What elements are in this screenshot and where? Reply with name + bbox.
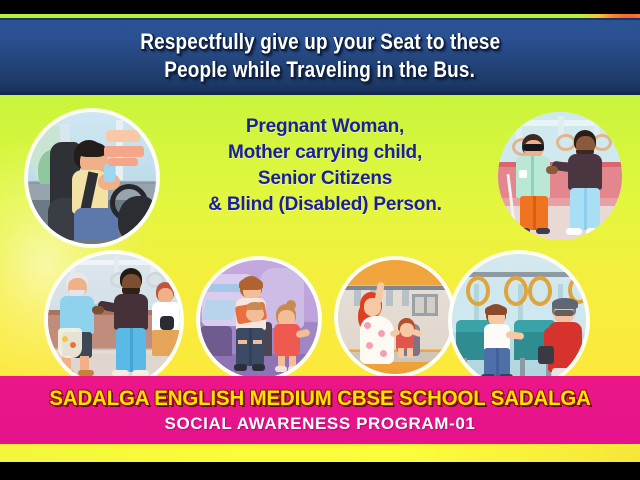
illustration-mother-carrying-child [200, 260, 318, 378]
driver-in-car-scene [28, 112, 156, 244]
body-line-1: Pregnant Woman, [160, 114, 490, 140]
boy-offering-seat-scene [452, 254, 586, 388]
body-copy: Pregnant Woman, Mother carrying child, S… [160, 114, 490, 218]
illustration-boy-offering-seat-to-elderly-woman [452, 254, 586, 388]
illustration-senior-citizen-offered-seat [48, 254, 180, 386]
header-line-1: Respectfully give up your Seat to these [140, 28, 500, 56]
body-line-4: & Blind (Disabled) Person. [160, 192, 490, 218]
awareness-poster: Respectfully give up your Seat to these … [0, 0, 640, 480]
header-banner: Respectfully give up your Seat to these … [0, 18, 640, 95]
pregnant-woman-scene [338, 260, 452, 374]
blind-person-scene [498, 112, 622, 240]
senior-citizen-scene [48, 254, 180, 386]
school-name: SADALGA ENGLISH MEDIUM CBSE SCHOOL SADAL… [49, 386, 590, 411]
mother-carrying-child-scene [200, 260, 318, 378]
footer-yellow-strip [0, 446, 640, 462]
illustration-driver-in-car [28, 112, 156, 244]
body-line-3: Senior Citizens [160, 166, 490, 192]
footer-banner: SADALGA ENGLISH MEDIUM CBSE SCHOOL SADAL… [0, 376, 640, 444]
letterbox-bottom [0, 462, 640, 480]
body-line-2: Mother carrying child, [160, 140, 490, 166]
illustration-pregnant-woman-standing [338, 260, 452, 374]
illustration-blind-person-with-cane [498, 112, 622, 240]
letterbox-top [0, 0, 640, 14]
program-name: SOCIAL AWARENESS PROGRAM-01 [165, 414, 476, 434]
poster-stage: Respectfully give up your Seat to these … [0, 14, 640, 462]
header-line-2: People while Traveling in the Bus. [165, 56, 476, 84]
